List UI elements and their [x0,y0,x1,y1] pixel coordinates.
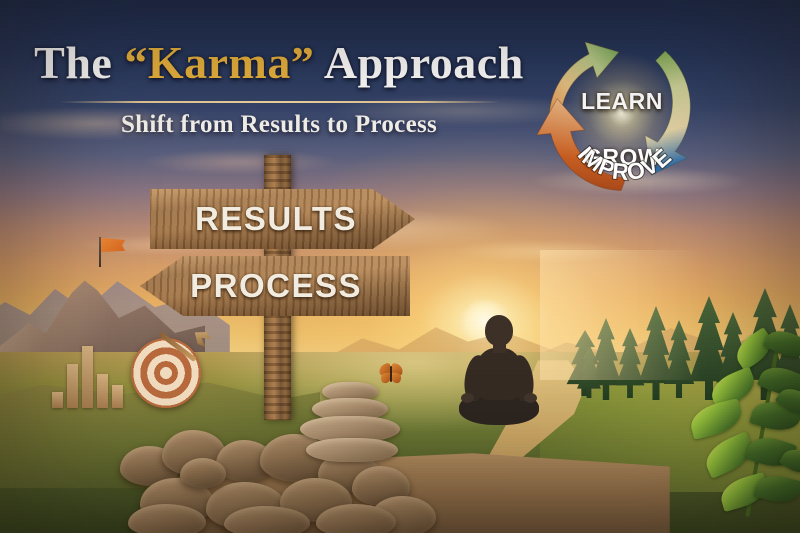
pine-tree [612,328,648,398]
poster-canvas: RESULTS PROCESS [0,0,800,533]
meditator-hand-left [461,393,474,403]
sign-process-label: PROCESS [190,267,410,305]
meditator-torso [476,348,522,400]
summit-flag-icon [101,238,125,252]
continuous-improvement-cycle: LEARN GROW IMPROVE [527,18,717,208]
bar-chart-bar [67,364,78,408]
summit-flag-pole [99,237,101,267]
meditator-head [485,315,513,346]
cycle-label-improve-arc: IMPROVE [527,18,717,208]
title-divider [60,101,500,103]
boulder [180,458,226,488]
bar-chart-bar [97,374,108,408]
sign-results-label: RESULTS [150,200,357,238]
bar-chart-bar [52,392,63,408]
sign-results[interactable]: RESULTS [150,189,415,249]
butterfly-body [390,366,392,382]
title-part-2: Approach [314,37,523,88]
sign-process[interactable]: PROCESS [140,256,410,316]
stacked-balance-stones [296,382,406,462]
leaf [763,324,800,364]
meditating-silhouette [455,315,543,425]
target-bullseye-icon [131,338,201,408]
leaf [687,398,745,440]
balance-stone [306,438,398,462]
title-keyword: “Karma” [124,37,314,88]
page-subtitle: Shift from Results to Process [34,111,524,139]
green-leaf-foliage [690,330,800,533]
meditator-hand-right [524,393,537,403]
bar-chart-icon [52,344,128,408]
title-part-1: The [34,37,124,88]
bar-chart-bar [82,346,93,408]
cycle-label-improve: IMPROVE [573,142,676,186]
page-title: The “Karma” Approach [34,38,524,88]
